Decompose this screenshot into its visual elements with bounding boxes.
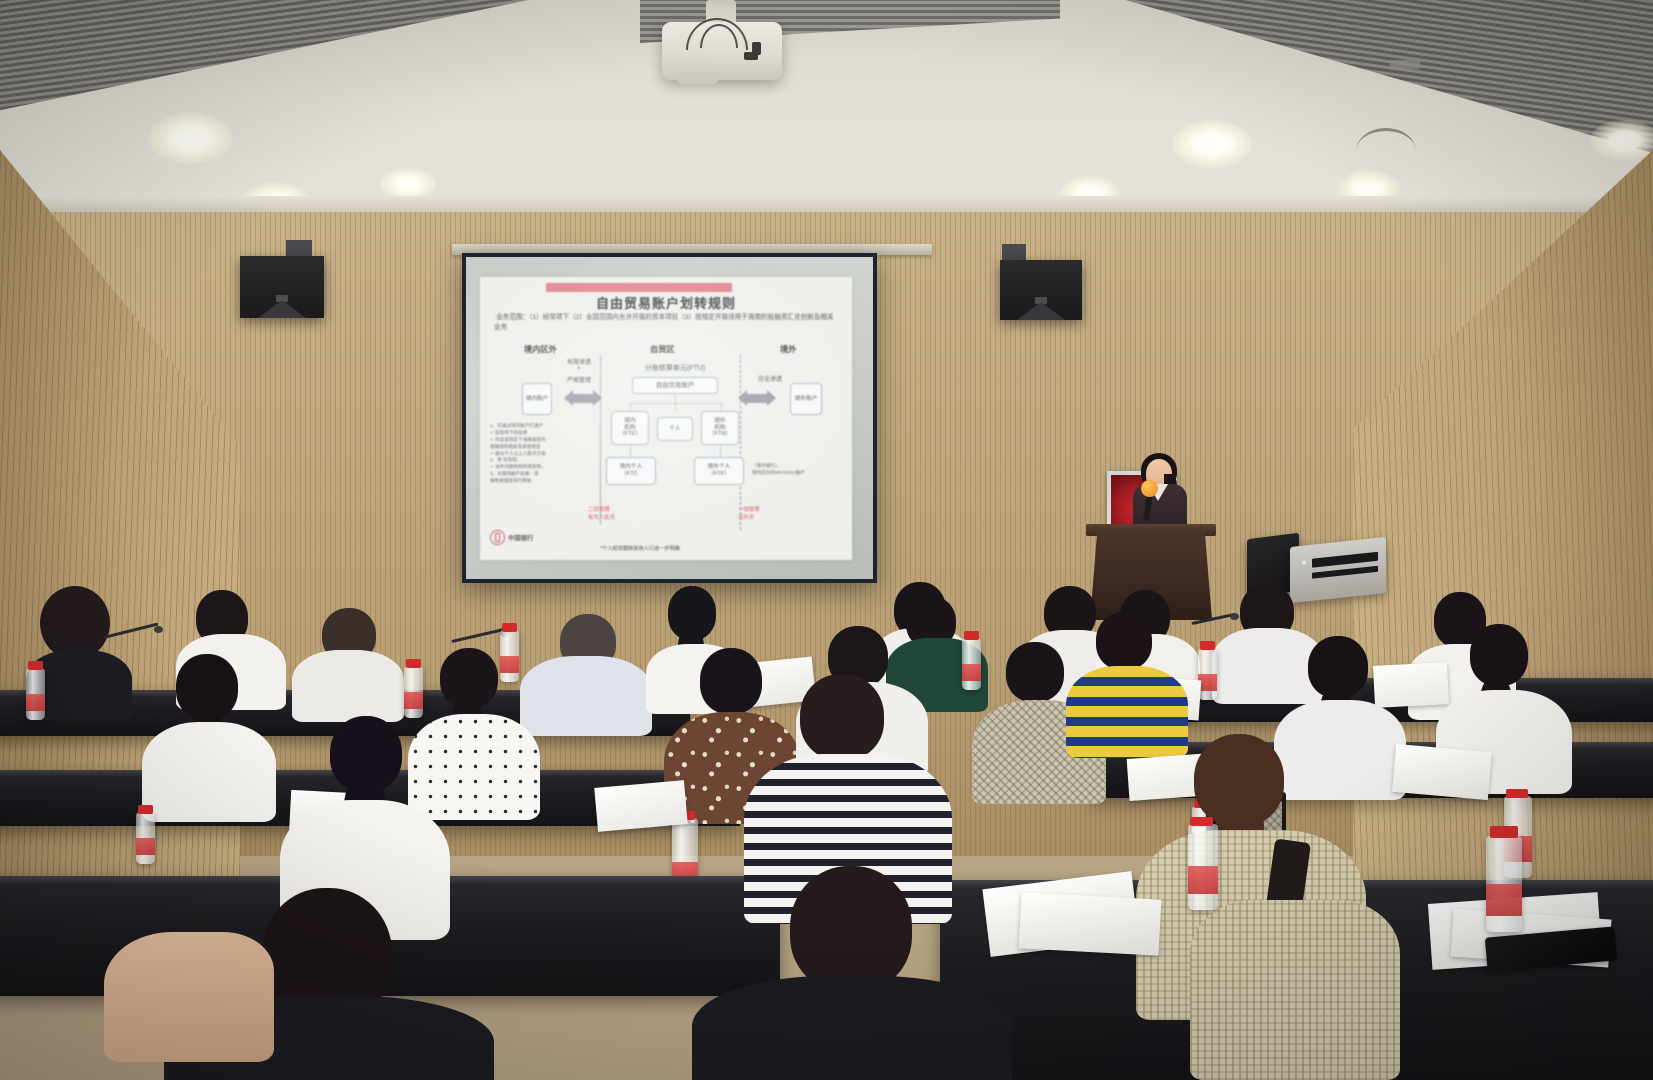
ceiling-downlight	[148, 112, 232, 164]
bottle-label	[500, 656, 519, 673]
bottle-cap	[28, 661, 43, 670]
right-transfer-arrow	[746, 394, 768, 403]
water-bottle	[1486, 836, 1522, 932]
slide-column-header-offshore: 境外	[780, 343, 796, 355]
projector-connector	[744, 52, 758, 60]
ftz-unit-label: 分账核算单元(FTU)	[620, 363, 730, 373]
water-bottle	[962, 638, 981, 690]
slide-connector	[675, 394, 676, 403]
right-arrow-caption: 完全渗透	[746, 374, 794, 383]
ceiling-downlight	[1590, 120, 1653, 160]
hand-and-arm	[104, 932, 274, 1062]
slide-left-fineprint: 1、可通过境内账户打通户 ✓ 经常项下的往来 ✓ 符合自贸区下海南规定的 投融资…	[490, 423, 594, 485]
mic-capsule	[1230, 613, 1239, 620]
bottle-cap	[964, 631, 979, 640]
torso	[520, 656, 652, 736]
projection-screen: 自由贸易账户划转规则 ·业务范围：（1）经常项下（2）全国范围内允许开展的资本项…	[462, 253, 877, 583]
torso	[1274, 700, 1406, 800]
boc-emblem-icon	[490, 530, 505, 545]
water-bottle	[500, 630, 519, 682]
head	[1096, 612, 1152, 670]
ceiling-downlight	[1172, 120, 1252, 168]
slide-subtitle: ·业务范围：（1）经常项下（2）全国范围内允许开展的资本项目（3）按规定开展适用…	[494, 313, 838, 332]
torso	[292, 650, 404, 722]
left-arrow-caption-line3: 严格管理	[556, 375, 602, 384]
ftz-domestic-individual-box: 境内个人 （FTI）	[606, 457, 656, 485]
bank-of-china-logo: 中国银行	[490, 530, 534, 545]
left-arrow-caption-line2: +	[556, 366, 602, 372]
bottle-label	[1188, 866, 1218, 894]
slide-connector	[675, 403, 676, 411]
slide-accent-bar	[546, 283, 732, 292]
ceiling-vent	[1390, 60, 1420, 69]
bottle-cap	[502, 623, 517, 632]
slide-footnote: *个人经常跟随其他人行进一步明确	[600, 545, 680, 552]
ftz-individual-box: 个人	[657, 417, 693, 441]
slide-divider-dashed	[740, 355, 741, 530]
slide-connector	[630, 403, 722, 404]
boc-logo-text: 中国银行	[508, 533, 534, 542]
slide-column-header-ftz: 自贸区	[650, 343, 675, 355]
projector-lens	[676, 72, 720, 84]
torso	[1066, 666, 1188, 758]
water-bottle	[404, 666, 423, 718]
handheld-microphone	[1141, 480, 1158, 497]
bottle-label	[1486, 884, 1522, 916]
bottle-cap	[138, 805, 153, 814]
rack-indicator-led	[1302, 560, 1306, 564]
handout-paper	[1373, 662, 1449, 708]
slide-connector	[721, 403, 722, 411]
speaker-bracket-left	[286, 240, 312, 256]
bottle-label	[962, 664, 981, 681]
head	[790, 866, 912, 992]
presentation-slide: 自由贸易账户划转规则 ·业务范围：（1）经常项下（2）全国范围内允许开展的资本项…	[480, 277, 852, 560]
bottle-label	[26, 694, 45, 711]
screen-surface: 自由贸易账户划转规则 ·业务范围：（1）经常项下（2）全国范围内允许开展的资本项…	[466, 257, 873, 579]
rack-slot	[1312, 566, 1378, 579]
bottle-cap	[1190, 817, 1213, 826]
torso	[142, 722, 276, 822]
slide-red-note-right: 一线管理 可外币	[738, 505, 798, 521]
slide-column-header-onshore: 境内区外	[524, 343, 557, 355]
bottle-cap	[1200, 641, 1215, 650]
slide-connector	[630, 403, 631, 411]
wall-speaker-right	[1000, 260, 1082, 320]
bottle-cap	[1490, 826, 1518, 838]
speaker-bracket-right	[1002, 244, 1026, 260]
slide-right-fineprint: 「境外银行」 境内区外的NRA/OSA账户	[752, 463, 846, 477]
speaker-horn	[1017, 302, 1065, 320]
conference-room-photo: 自由贸易账户划转规则 ·业务范围：（1）经常项下（2）全国范围内允许开展的资本项…	[0, 0, 1653, 1080]
bottle-label	[136, 838, 155, 855]
bottle-cap	[406, 659, 421, 668]
head	[700, 648, 762, 714]
ftz-domestic-institution-box: 境内 机构 （FTE）	[611, 411, 649, 445]
slide-title: 自由贸易账户划转规则	[480, 293, 852, 312]
wall-ceiling-trim	[0, 196, 1653, 212]
slide-red-note-left: 二线管理 有可人民币	[588, 505, 648, 521]
ftz-foreign-individual-box: 境外个人 （FTF）	[694, 457, 744, 485]
torso	[692, 976, 1012, 1080]
torso	[1190, 900, 1400, 1080]
head	[1006, 642, 1064, 702]
left-transfer-arrow	[572, 394, 594, 403]
hair	[40, 586, 110, 660]
handout-paper	[1019, 892, 1162, 955]
water-bottle	[26, 668, 45, 720]
wall-speaker-left	[240, 256, 324, 318]
offshore-account-box: 境外账户	[790, 383, 822, 415]
mic-capsule	[154, 626, 163, 633]
equipment-rack	[1290, 537, 1386, 603]
slide-connector	[720, 445, 721, 457]
handout-paper	[594, 780, 687, 832]
slide-connector	[630, 445, 631, 457]
bottle-label	[404, 692, 423, 709]
bottle-cap	[1506, 789, 1528, 798]
speaker-horn	[258, 300, 306, 318]
water-bottle	[1198, 648, 1217, 700]
onshore-account-box: 境内账户	[522, 383, 552, 415]
torso	[408, 714, 540, 820]
head	[800, 674, 884, 760]
ftz-foreign-institution-box: 境外 机构 （FTN）	[701, 411, 739, 445]
rack-slot	[1312, 552, 1378, 568]
ftz-main-account-box: 自由贸易账户	[632, 377, 718, 394]
water-bottle	[136, 812, 155, 864]
handout-paper	[1392, 744, 1492, 800]
left-arrow-caption-line1: 有限渗透	[556, 357, 602, 366]
water-bottle	[1188, 824, 1218, 910]
